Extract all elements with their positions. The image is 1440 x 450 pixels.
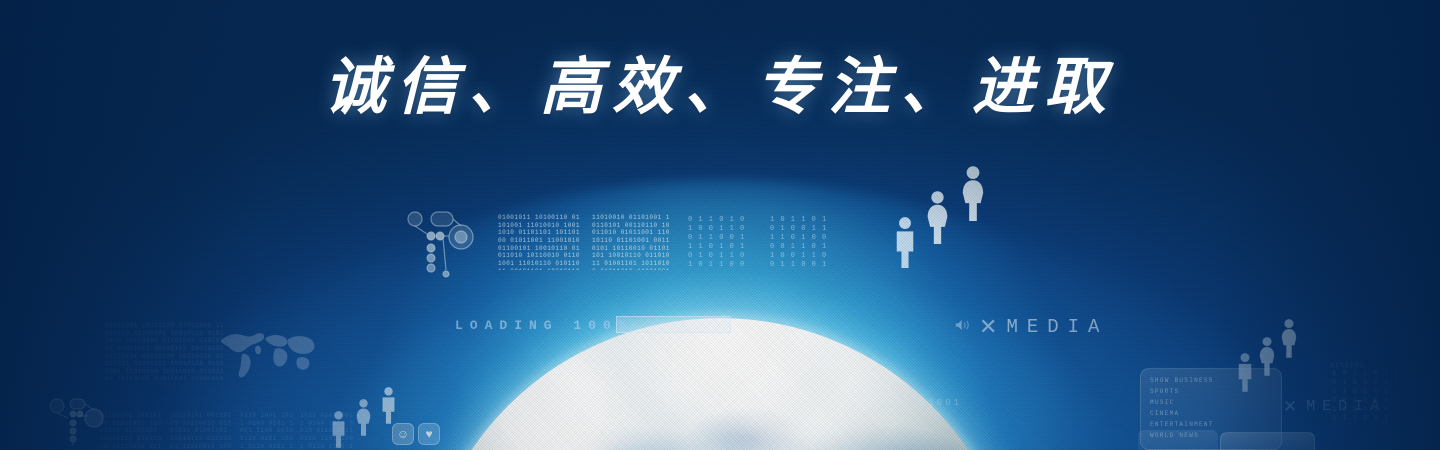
page-title: 诚信、高效、专注、进取 (0, 56, 1440, 118)
promo-banner: 01101001 10110100 01011001 11001010 0110… (0, 0, 1440, 450)
